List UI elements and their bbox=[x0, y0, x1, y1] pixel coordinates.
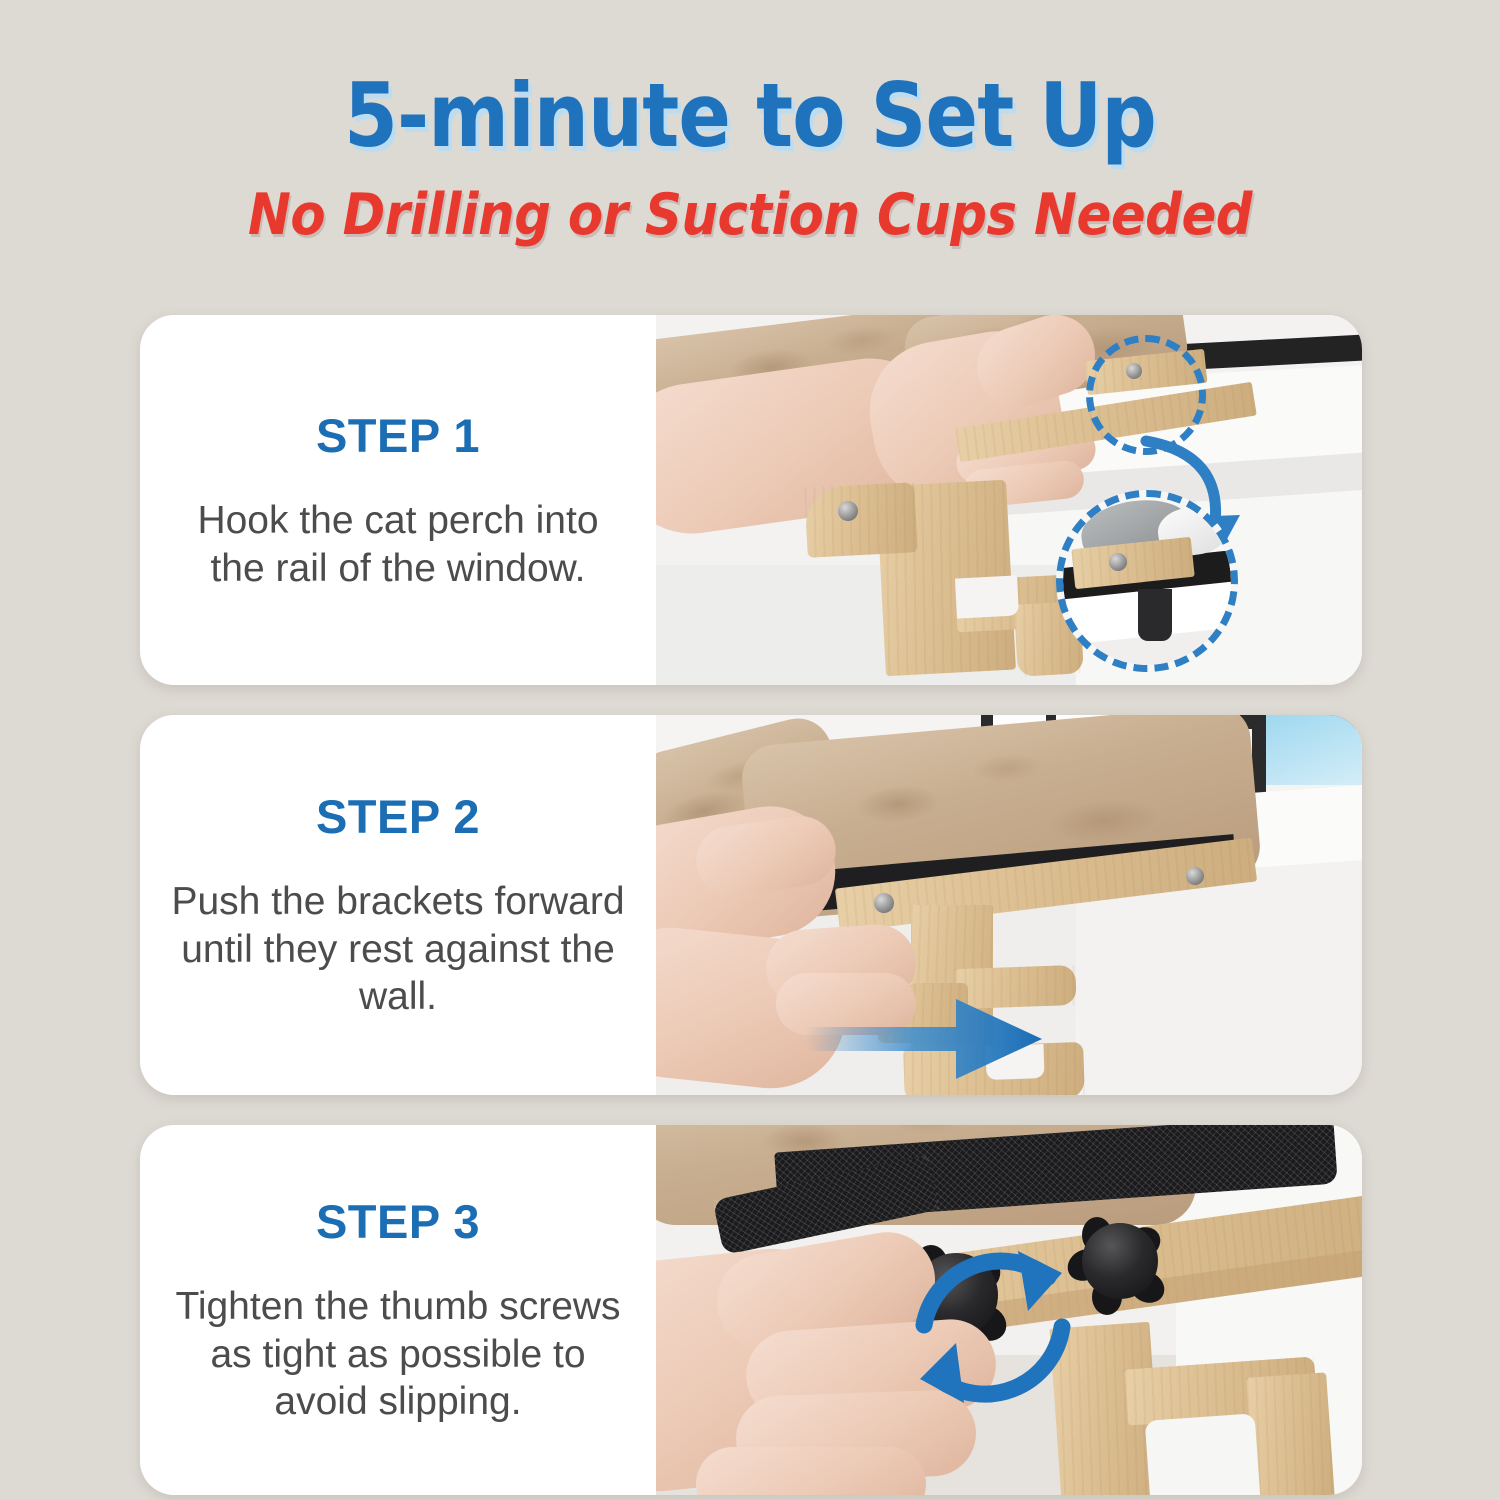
step-3-photo bbox=[656, 1125, 1362, 1495]
step-1-photo bbox=[656, 315, 1362, 685]
tighten-rotation-arrow bbox=[866, 1207, 1126, 1437]
step-1-label: STEP 1 bbox=[316, 408, 480, 463]
step-card-2: STEP 2 Push the brackets forward until t… bbox=[140, 715, 1362, 1095]
step-1-description: Hook the cat perch into the rail of the … bbox=[166, 497, 630, 592]
page-title: 5-minute to Set Up bbox=[90, 72, 1410, 160]
push-forward-arrow bbox=[806, 983, 1066, 1093]
steps-list: STEP 1 Hook the cat perch into the rail … bbox=[140, 315, 1362, 1495]
step-2-photo bbox=[656, 715, 1362, 1095]
step-card-3: STEP 3 Tighten the thumb screws as tight… bbox=[140, 1125, 1362, 1495]
page-subtitle: No Drilling or Suction Cups Needed bbox=[75, 182, 1425, 248]
step-card-1: STEP 1 Hook the cat perch into the rail … bbox=[140, 315, 1362, 685]
detail-zoom-circle bbox=[1056, 490, 1238, 672]
step-2-text: STEP 2 Push the brackets forward until t… bbox=[140, 715, 656, 1095]
step-1-text: STEP 1 Hook the cat perch into the rail … bbox=[140, 315, 656, 685]
step-2-label: STEP 2 bbox=[316, 789, 480, 844]
step-2-description: Push the brackets forward until they res… bbox=[166, 878, 630, 1021]
step-3-text: STEP 3 Tighten the thumb screws as tight… bbox=[140, 1125, 656, 1495]
header: 5-minute to Set Up No Drilling or Suctio… bbox=[0, 0, 1500, 248]
step-3-label: STEP 3 bbox=[316, 1194, 480, 1249]
step-3-description: Tighten the thumb screws as tight as pos… bbox=[166, 1283, 630, 1426]
